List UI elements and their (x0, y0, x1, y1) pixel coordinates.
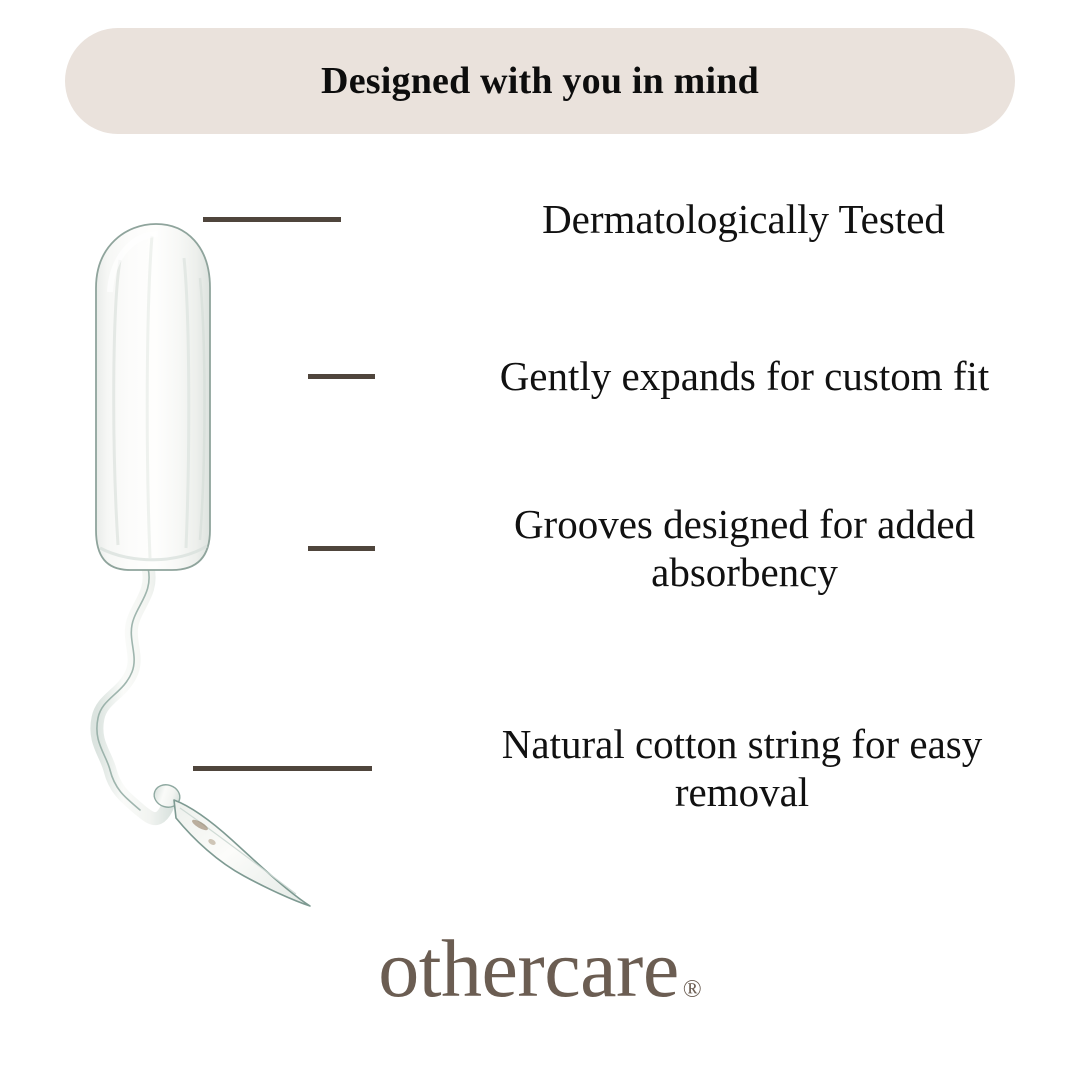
connector-line-icon (308, 374, 375, 379)
feature-label: Dermatologically Tested (424, 195, 1063, 243)
registered-trademark-icon: ® (683, 976, 702, 1004)
connector-line-icon (203, 217, 341, 222)
brand-logo: othercare ® (0, 928, 1080, 1010)
feature-row-cotton-string: Natural cotton string for easy removal (193, 720, 1073, 817)
feature-list: Dermatologically Tested Gently expands f… (180, 190, 1060, 910)
page-title: Designed with you in mind (321, 62, 759, 100)
feature-row-grooves-absorbency: Grooves designed for added absorbency (308, 500, 1068, 597)
connector-line-icon (308, 546, 375, 551)
feature-label: Natural cotton string for easy removal (437, 720, 1047, 817)
logo-wordmark: othercare (378, 928, 678, 1010)
feature-label: Grooves designed for added absorbency (427, 500, 1062, 597)
feature-row-dermatologically-tested: Dermatologically Tested (203, 195, 1063, 243)
connector-line-icon (193, 766, 372, 771)
infographic-canvas: Designed with you in mind (0, 0, 1080, 1080)
feature-label: Gently expands for custom fit (427, 352, 1062, 400)
header-banner: Designed with you in mind (65, 28, 1015, 134)
feature-row-gently-expands: Gently expands for custom fit (308, 352, 1068, 400)
